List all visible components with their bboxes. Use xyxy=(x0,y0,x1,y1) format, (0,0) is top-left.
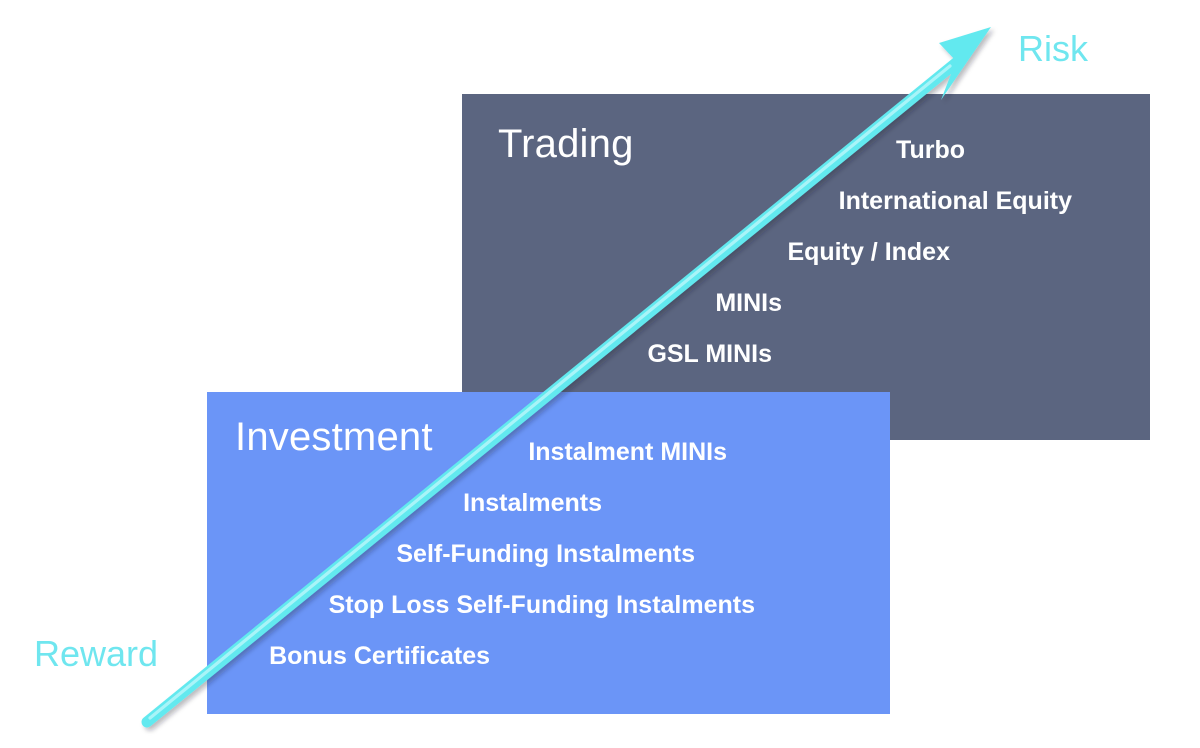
diagram-canvas: Trading Turbo International Equity Equit… xyxy=(0,0,1200,748)
product-label-self-funding-instalments: Self-Funding Instalments xyxy=(396,542,695,567)
product-label-gsl-minis: GSL MINIs xyxy=(647,342,772,367)
product-label-turbo: Turbo xyxy=(896,138,965,163)
trading-panel: Trading Turbo International Equity Equit… xyxy=(462,94,1150,440)
product-label-instalments: Instalments xyxy=(463,491,602,516)
arrow-head xyxy=(939,27,991,100)
investment-product-list: Instalment MINIs Instalments Self-Fundin… xyxy=(207,392,890,714)
product-label-instalment-minis: Instalment MINIs xyxy=(528,440,727,465)
product-label-minis: MINIs xyxy=(715,291,782,316)
product-label-equity-index: Equity / Index xyxy=(787,240,950,265)
investment-panel: Investment Instalment MINIs Instalments … xyxy=(207,392,890,714)
trading-product-list: Turbo International Equity Equity / Inde… xyxy=(462,94,1150,440)
product-label-international-equity: International Equity xyxy=(839,189,1072,214)
risk-axis-label: Risk xyxy=(1018,31,1088,67)
reward-axis-label: Reward xyxy=(34,636,158,672)
product-label-stop-loss-self-funding-instalments: Stop Loss Self-Funding Instalments xyxy=(329,593,755,618)
product-label-bonus-certificates: Bonus Certificates xyxy=(269,644,490,669)
